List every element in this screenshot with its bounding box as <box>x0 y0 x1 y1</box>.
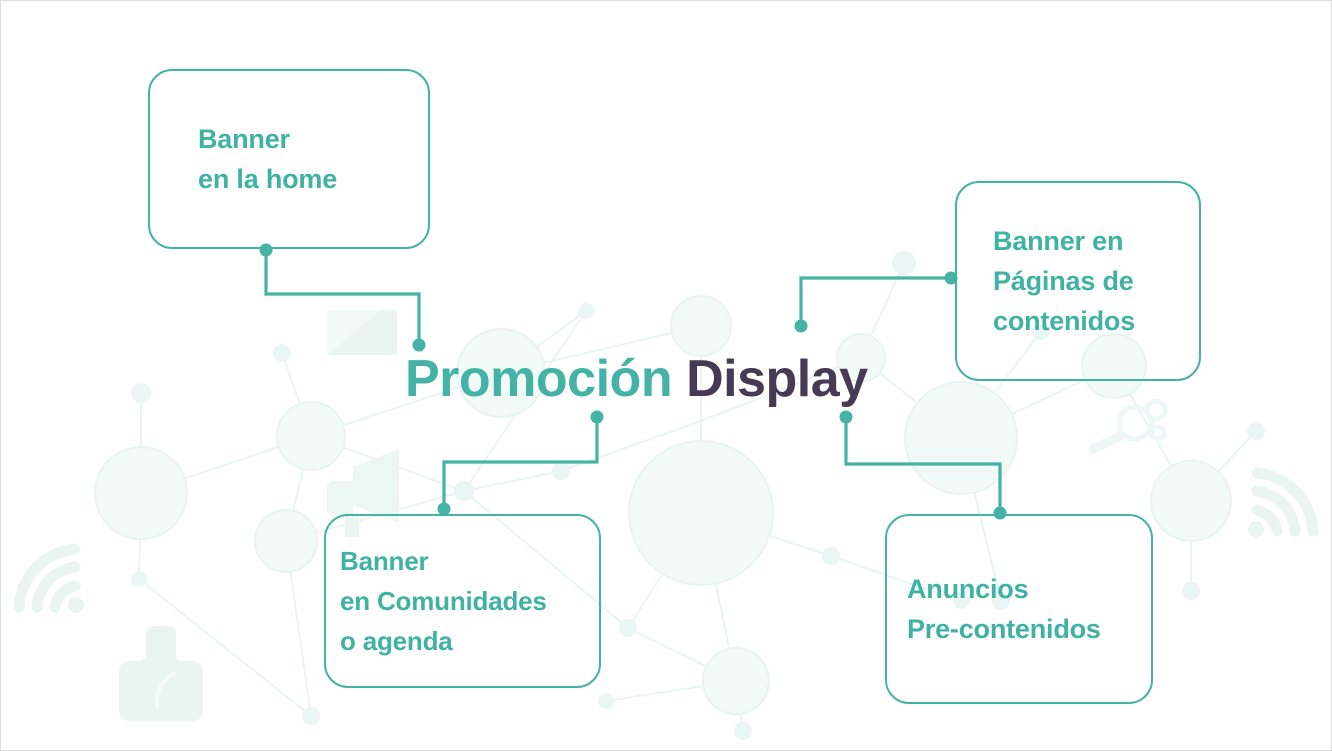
node-label-banner-home: Banner en la home <box>150 119 347 199</box>
connector-anuncios <box>846 419 1000 510</box>
image-placeholder-icon <box>327 310 397 355</box>
camera-icon <box>119 626 203 721</box>
node-label-banner-paginas: Banner en Páginas de contenidos <box>957 221 1145 341</box>
connector-endpoint-dot <box>840 411 853 424</box>
node-box-anuncios-precontenidos[interactable]: Anuncios Pre-contenidos <box>885 514 1153 704</box>
wifi-signal-icon <box>1257 473 1313 531</box>
connector-comunidades <box>444 419 597 506</box>
node-box-banner-paginas[interactable]: Banner en Páginas de contenidos <box>955 181 1201 381</box>
node-label-anuncios-precontenidos: Anuncios Pre-contenidos <box>887 569 1111 649</box>
diagram-title: Promoción Display <box>405 347 925 411</box>
title-secondary-text: Display <box>686 349 867 409</box>
node-label-banner-comunidades: Banner en Comunidades o agenda <box>326 541 557 661</box>
connector-endpoint-dot <box>795 320 808 333</box>
connector-endpoint-dot <box>591 411 604 424</box>
magnifier-gears-icon <box>1093 401 1165 449</box>
wifi-signal-icon <box>19 549 75 607</box>
connector-paginas <box>801 278 951 323</box>
wifi-dot-icon <box>1248 521 1264 537</box>
title-primary-text: Promoción <box>405 349 672 409</box>
node-box-banner-home[interactable]: Banner en la home <box>148 69 430 249</box>
connector-home <box>266 250 419 342</box>
wifi-dot-icon <box>68 597 84 613</box>
slide-canvas: Banner en la home Banner en Páginas de c… <box>0 0 1332 751</box>
node-box-banner-comunidades[interactable]: Banner en Comunidades o agenda <box>324 514 601 688</box>
